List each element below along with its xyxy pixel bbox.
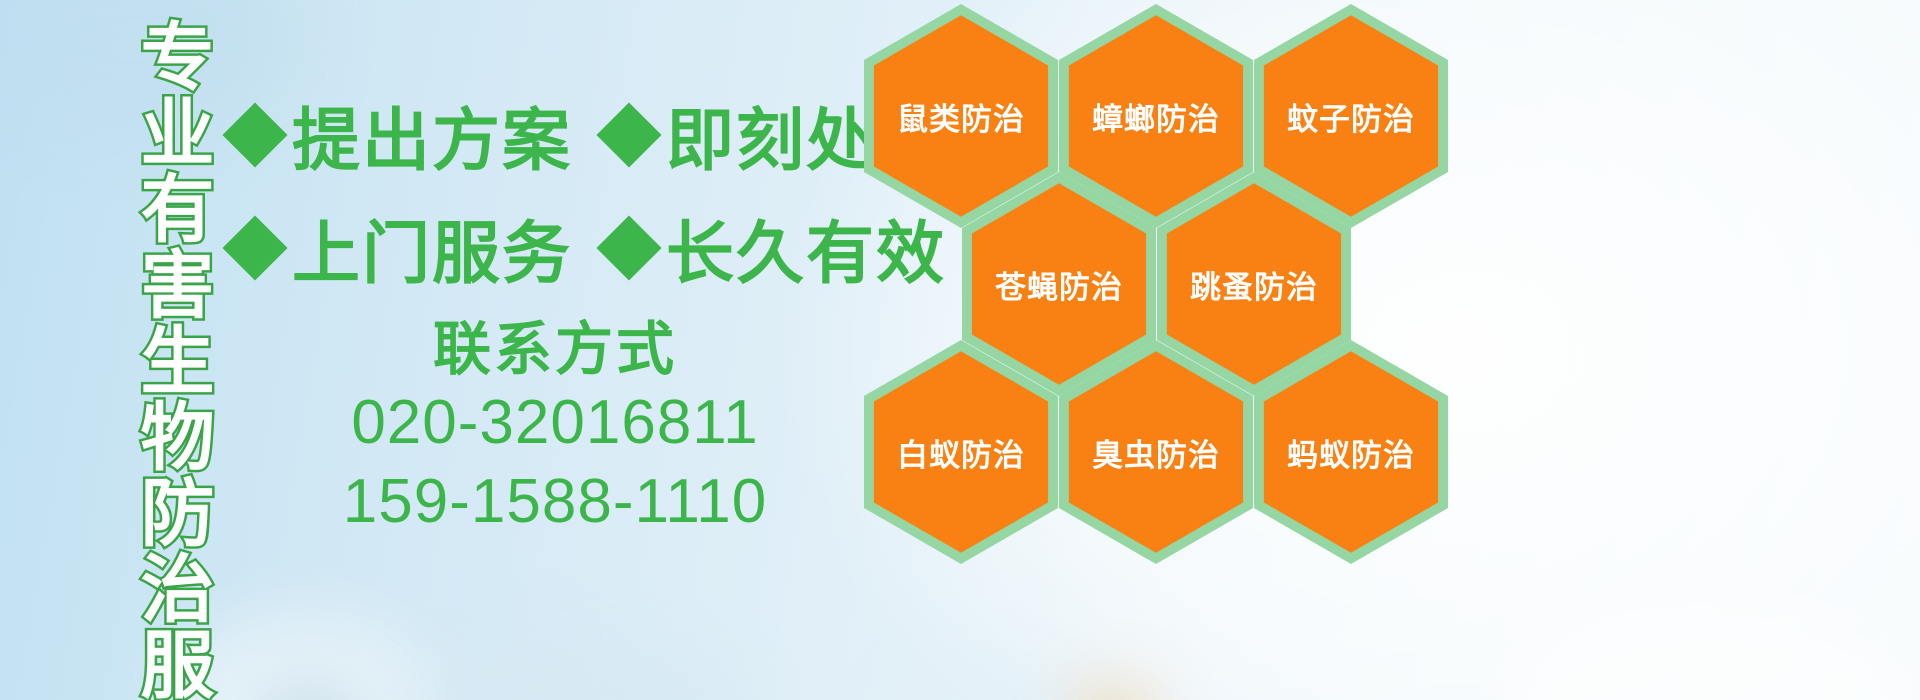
diamond-icon	[596, 215, 661, 280]
background-blur-blob	[430, 645, 750, 700]
diamond-icon	[596, 102, 661, 167]
contact-block: 联系方式 020-32016811 159-1588-1110	[245, 318, 865, 542]
diamond-icon	[222, 215, 287, 280]
service-label: 蚂蚁防治	[1254, 340, 1448, 564]
contact-title: 联系方式	[245, 318, 865, 383]
service-label: 白蚁防治	[864, 340, 1058, 564]
contact-phone-landline[interactable]: 020-32016811	[245, 383, 865, 462]
feature-row-1: 提出方案 即刻处理	[232, 85, 946, 184]
background-blur-blob	[1080, 690, 1150, 700]
feature-label-propose-plan: 提出方案	[292, 85, 572, 184]
service-hex-termite[interactable]: 白蚁防治	[864, 340, 1058, 564]
service-label: 臭虫防治	[1059, 340, 1253, 564]
background-blur-blob	[1500, 610, 1920, 700]
service-hex-bedbug[interactable]: 臭虫防治	[1059, 340, 1253, 564]
banner-stage: 专业有害生物防治服务 提出方案 即刻处理 上门服务 长久有效 联系方式 020-…	[0, 0, 1920, 700]
feature-label-onsite-service: 上门服务	[292, 198, 572, 297]
feature-row-2: 上门服务 长久有效	[232, 198, 946, 297]
background-blur-blob	[250, 680, 370, 700]
background-blur-blob	[900, 660, 1080, 700]
vertical-slogan: 专业有害生物防治服务	[113, 18, 209, 700]
contact-phone-mobile[interactable]: 159-1588-1110	[245, 462, 865, 541]
service-hex-ant[interactable]: 蚂蚁防治	[1254, 340, 1448, 564]
diamond-icon	[222, 102, 287, 167]
services-honeycomb: 鼠类防治 蟑螂防治 蚊子防治 苍蝇防治 跳蚤防治 白蚁防治	[856, 0, 1456, 554]
